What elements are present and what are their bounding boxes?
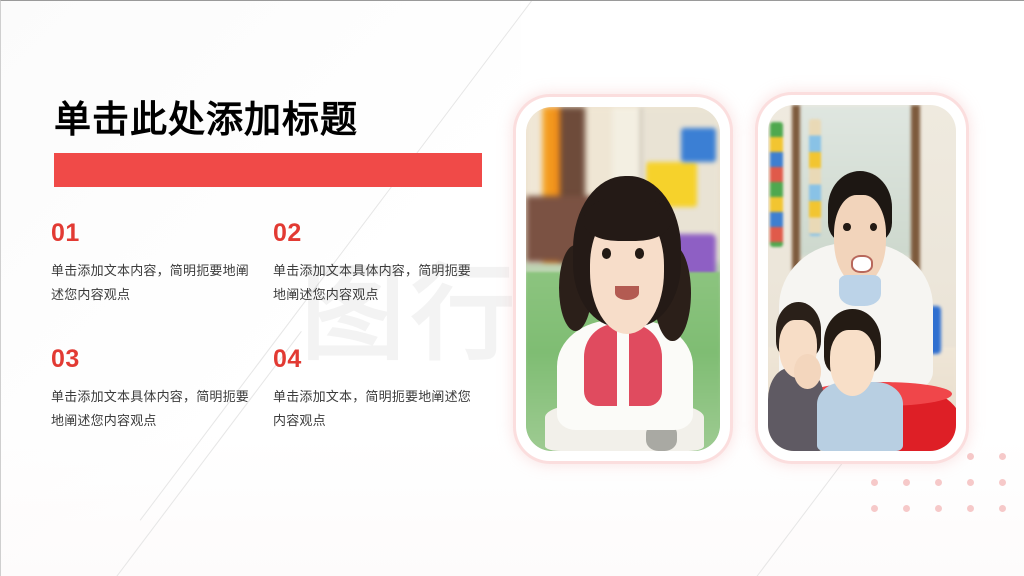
photo-frame-right[interactable] <box>758 95 966 461</box>
item-text: 单击添加文本内容，简明扼要地阐述您内容观点 <box>51 259 255 307</box>
decorative-dot <box>967 479 974 486</box>
content-item-01[interactable]: 01 单击添加文本内容，简明扼要地阐述您内容观点 <box>51 221 273 307</box>
decorative-dot <box>903 505 910 512</box>
decorative-dot <box>935 505 942 512</box>
title-underline-bar <box>54 153 482 187</box>
item-text: 单击添加文本具体内容，简明扼要地阐述您内容观点 <box>273 259 477 307</box>
item-row: 01 单击添加文本内容，简明扼要地阐述您内容观点 02 单击添加文本具体内容，简… <box>51 221 496 307</box>
decorative-dot <box>967 505 974 512</box>
decorative-dot <box>935 479 942 486</box>
item-row: 03 单击添加文本具体内容，简明扼要地阐述您内容观点 04 单击添加文本，简明扼… <box>51 347 496 433</box>
item-number: 02 <box>273 221 477 246</box>
presentation-slide: 图行天下 单击此处添加标题 01 单击添加文本内容，简明扼要地阐述您内容观点 0… <box>0 0 1024 576</box>
item-text: 单击添加文本具体内容，简明扼要地阐述您内容观点 <box>51 385 255 433</box>
photo-girl <box>526 107 720 451</box>
dot-grid-decoration <box>871 453 1024 531</box>
decorative-dot <box>903 479 910 486</box>
decorative-dot <box>871 479 878 486</box>
background-diagonal-line <box>733 456 848 576</box>
item-number: 01 <box>51 221 255 246</box>
item-number: 03 <box>51 347 255 372</box>
item-number: 04 <box>273 347 477 372</box>
content-item-02[interactable]: 02 单击添加文本具体内容，简明扼要地阐述您内容观点 <box>273 221 495 307</box>
decorative-dot <box>999 505 1006 512</box>
decorative-dot <box>871 505 878 512</box>
photo-teacher-and-children <box>768 105 956 451</box>
item-text: 单击添加文本，简明扼要地阐述您内容观点 <box>273 385 477 433</box>
page-title: 单击此处添加标题 <box>54 89 358 143</box>
content-item-03[interactable]: 03 单击添加文本具体内容，简明扼要地阐述您内容观点 <box>51 347 273 433</box>
content-item-04[interactable]: 04 单击添加文本，简明扼要地阐述您内容观点 <box>273 347 495 433</box>
decorative-dot <box>999 453 1006 460</box>
photo-frame-left[interactable] <box>516 97 730 461</box>
decorative-dot <box>999 479 1006 486</box>
content-items-grid: 01 单击添加文本内容，简明扼要地阐述您内容观点 02 单击添加文本具体内容，简… <box>51 221 496 433</box>
decorative-dot <box>967 453 974 460</box>
